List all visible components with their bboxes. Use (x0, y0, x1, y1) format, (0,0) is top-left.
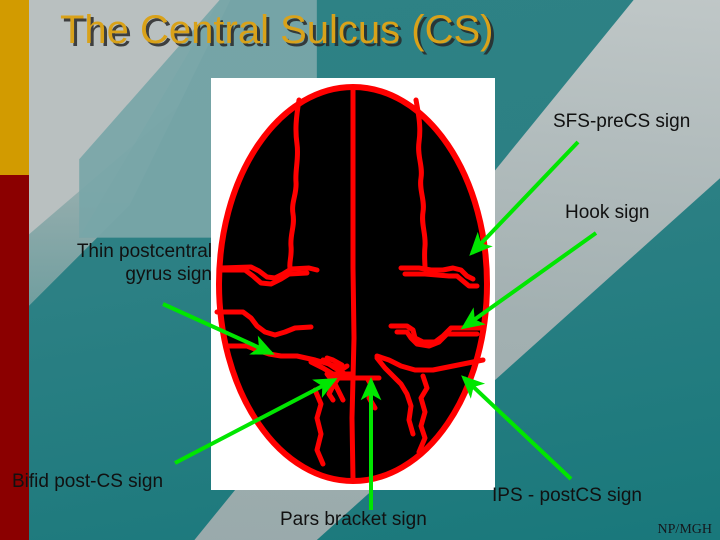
midline-fissure (352, 88, 354, 480)
brain-diagram-svg (211, 78, 495, 490)
sulcus-bracket-tick (341, 366, 347, 370)
slide-canvas: The Central Sulcus (CS) (0, 0, 720, 540)
brain-diagram-panel (211, 78, 495, 490)
page-title: The Central Sulcus (CS) (60, 8, 680, 53)
label-sfs-precs-sign: SFS-preCS sign (553, 110, 690, 133)
label-bifid-post-cs-sign: Bifid post-CS sign (12, 470, 163, 493)
left-bar-gold (0, 0, 29, 175)
label-hook-sign: Hook sign (565, 201, 650, 224)
label-ips-postcs-sign: IPS - postCS sign (492, 484, 642, 507)
label-thin-postcentral-sign: Thin postcentral gyrus sign (12, 240, 212, 286)
credit-text: NP/MGH (658, 522, 712, 538)
label-pars-bracket-sign: Pars bracket sign (280, 508, 427, 531)
